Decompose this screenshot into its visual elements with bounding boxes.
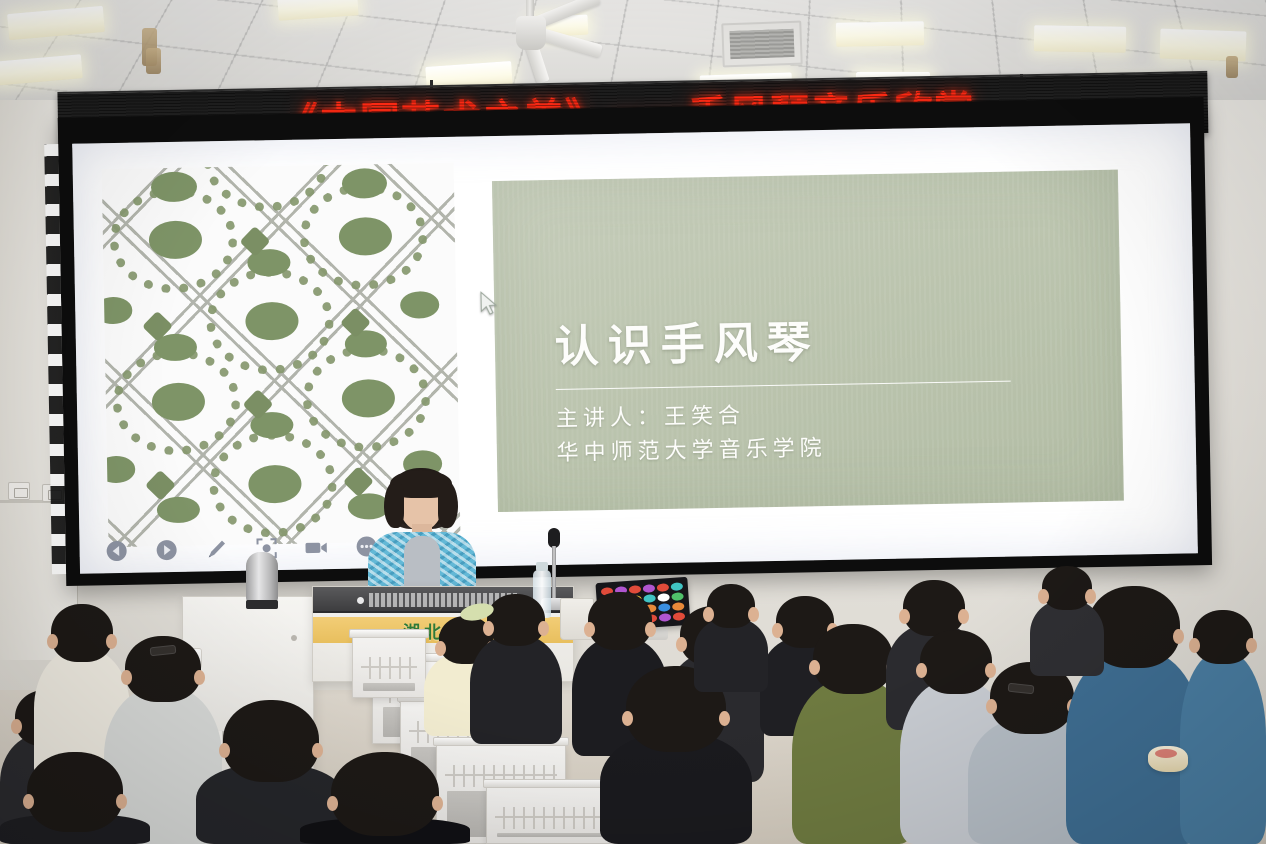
student-ear [23,794,34,809]
audience-student [1030,566,1104,676]
student-ear [899,609,910,624]
student-torso [1030,600,1104,676]
play-icon[interactable] [154,537,178,561]
student-head [588,592,652,650]
student-ear [719,711,730,726]
pattern-blob [344,330,387,357]
audience-student [300,752,470,844]
student-ear [809,660,820,675]
student-ear [703,607,714,622]
audience-student [0,752,150,844]
led-panel-light [836,21,924,47]
student-ear [194,670,205,685]
student-torso [694,618,768,692]
student-ear [622,711,633,726]
student-head [707,584,755,628]
projection-screen-frame: 认识手风琴 主讲人：王笑合 华中师范大学音乐学院 [58,97,1212,586]
video-camera-icon[interactable] [304,535,328,559]
control-panel-key[interactable] [657,583,670,592]
student-head [1042,566,1092,610]
air-vent [721,21,802,68]
student-ear [11,719,22,734]
lecture-hall-scene: 《中国艺术之美》——手风琴音乐欣赏 [0,0,1266,844]
power-outlet[interactable] [8,482,30,500]
student-ear [584,622,595,637]
student-head [487,594,545,646]
student-ear [645,622,656,637]
audience-student [1180,610,1266,844]
pen-icon[interactable] [204,537,228,561]
control-panel-key[interactable] [671,582,684,591]
student-torso [1180,652,1266,844]
smoke-sensor [146,48,161,74]
student-head [1193,610,1253,664]
student-ear [432,796,443,811]
student-ear [219,743,230,758]
control-panel-key[interactable] [671,592,684,601]
snack-item [1148,746,1188,772]
student-ear [986,699,997,714]
slide-text-block: 认识手风琴 主讲人：王笑合 华中师范大学音乐学院 [554,301,1086,471]
slide-divider-rule [555,380,1010,390]
student-ear [538,621,549,636]
student-ear [121,670,132,685]
student-ear [116,794,127,809]
previous-icon[interactable] [104,538,128,562]
student-ear [1038,589,1049,604]
student-ear [958,609,969,624]
pattern-blob [148,220,201,259]
student-ear [676,637,687,652]
student-ear [483,621,494,636]
pattern-blob [400,292,439,319]
ceiling-fan [470,0,600,72]
led-panel-light [1034,25,1126,53]
projected-slide-surface[interactable]: 认识手风琴 主讲人：王笑合 华中师范大学音乐学院 [72,123,1198,573]
student-ear [1085,589,1096,604]
student-ear [916,663,927,678]
audience-student [694,584,768,692]
student-ear [1189,638,1200,653]
student-ear [748,607,759,622]
student-ear [772,623,783,638]
audience-student [600,666,752,844]
student-head [27,752,123,832]
student-head [331,752,439,836]
pattern-blob [248,464,301,503]
student-ear [435,641,446,656]
thermos-flask [246,552,278,602]
lecture-desk [352,636,426,698]
student-ear [1246,638,1257,653]
student-ear [47,634,58,649]
student-ear [327,796,338,811]
pattern-blob [339,217,392,256]
smoke-sensor [1226,56,1238,78]
slide-title: 认识手风琴 [554,301,1084,375]
student-head [813,624,893,694]
slide-content-panel: 认识手风琴 主讲人：王笑合 华中师范大学音乐学院 [492,170,1124,513]
student-torso [470,635,562,744]
student-head [903,580,965,636]
